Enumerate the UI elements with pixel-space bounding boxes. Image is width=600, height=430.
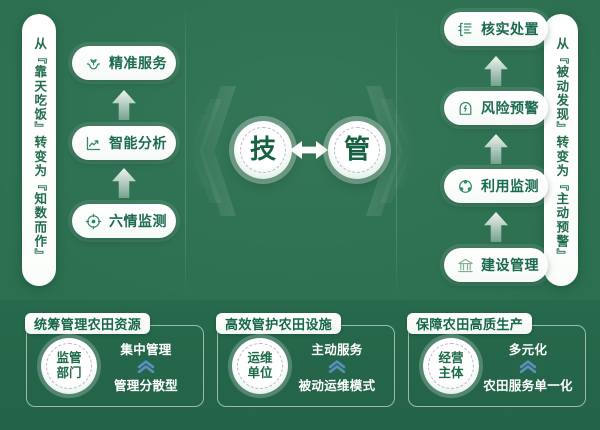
role-label-line2: 单位 xyxy=(247,366,272,381)
pill-precise-service[interactable]: 精准服务 xyxy=(72,46,176,80)
transform-target: 主动服务 xyxy=(311,339,362,358)
pill-label: 六情监测 xyxy=(109,211,167,231)
shield-bolt-icon xyxy=(457,100,474,117)
chevron-up-double-icon xyxy=(518,360,538,373)
pill-risk-warning[interactable]: 风险预警 xyxy=(444,91,548,125)
role-label-line2: 主体 xyxy=(438,366,463,381)
role-label-line1: 经营 xyxy=(438,351,463,366)
up-arrow-icon xyxy=(112,90,136,120)
role-circle: 运维 单位 xyxy=(232,338,288,394)
core-char: 技 xyxy=(250,137,276,163)
pill-utilization-monitoring[interactable]: 利用监测 xyxy=(444,169,548,203)
core-circle-management: 管 xyxy=(328,121,386,179)
recycle-nodes-icon xyxy=(457,178,474,195)
card-high-quality-production: 保障农田高质生产 经营 主体 多元化 xyxy=(408,325,586,407)
core-char: 管 xyxy=(344,137,370,163)
role-label-line1: 监管 xyxy=(56,351,81,366)
up-arrow-icon xyxy=(484,134,508,164)
pill-label: 利用监测 xyxy=(481,176,539,196)
chevron-up-double-icon xyxy=(136,360,156,373)
card-body: 运维 单位 主动服务 被动运维模式 xyxy=(218,326,394,406)
pill-six-condition-monitoring[interactable]: 六情监测 xyxy=(72,204,176,238)
role-label: 运维 单位 xyxy=(247,351,272,381)
banner-right-text: 从『被动发现』转变为『主动预警』 xyxy=(555,37,568,263)
target-crosshair-icon xyxy=(85,213,102,230)
line-chart-icon xyxy=(85,135,102,152)
up-arrow-icon xyxy=(484,56,508,86)
transform-source: 被动运维模式 xyxy=(299,375,376,394)
card-farmland-resources: 统筹管理农田资源 监管 部门 集中管理 xyxy=(26,325,204,407)
role-circle: 经营 主体 xyxy=(423,338,479,394)
decorative-chevron-burst-left xyxy=(182,86,236,216)
clipboard-check-icon xyxy=(457,21,474,38)
up-arrow-icon xyxy=(484,212,508,242)
banner-left-text: 从『靠天吃饭』转变为『知数而作』 xyxy=(33,37,46,263)
transform-block: 多元化 农田服务单一化 xyxy=(479,339,585,394)
chevron-up-double-icon xyxy=(327,360,347,373)
role-label-line1: 运维 xyxy=(247,351,272,366)
transform-target: 集中管理 xyxy=(120,339,171,358)
pill-construction-management[interactable]: 建设管理 xyxy=(444,248,548,282)
hands-sprout-icon xyxy=(85,55,102,72)
infographic-root: 从『靠天吃饭』转变为『知数而作』 从『被动发现』转变为『主动预警』 精准服务 xyxy=(0,0,600,430)
pill-verification-handling[interactable]: 核实处置 xyxy=(444,12,548,46)
card-body: 监管 部门 集中管理 管理分散型 xyxy=(27,326,203,406)
transform-block: 集中管理 管理分散型 xyxy=(97,339,203,394)
core-circle-technology: 技 xyxy=(234,121,292,179)
card-body: 经营 主体 多元化 农田服务单一化 xyxy=(409,326,585,406)
role-circle: 监管 部门 xyxy=(41,338,97,394)
double-arrow-icon xyxy=(290,141,328,159)
transform-block: 主动服务 被动运维模式 xyxy=(288,339,394,394)
decorative-hairline-left xyxy=(185,0,186,300)
pill-label: 精准服务 xyxy=(109,53,167,73)
pill-label: 建设管理 xyxy=(481,255,539,275)
banner-left: 从『靠天吃饭』转变为『知数而作』 xyxy=(22,14,56,286)
transform-source: 管理分散型 xyxy=(114,375,178,394)
bottom-cards-panel: 统筹管理农田资源 监管 部门 集中管理 xyxy=(0,300,600,430)
role-label: 经营 主体 xyxy=(438,351,463,381)
bank-building-icon xyxy=(457,257,474,274)
card-farmland-facilities: 高效管护农田设施 运维 单位 主动服务 xyxy=(217,325,395,407)
up-arrow-icon xyxy=(112,168,136,198)
decorative-hairline-right xyxy=(396,0,397,300)
top-diagram-panel: 从『靠天吃饭』转变为『知数而作』 从『被动发现』转变为『主动预警』 精准服务 xyxy=(0,0,600,300)
pill-label: 风险预警 xyxy=(481,98,539,118)
pill-label: 核实处置 xyxy=(481,19,539,39)
role-label-line2: 部门 xyxy=(56,366,81,381)
pill-label: 智能分析 xyxy=(109,133,167,153)
role-label: 监管 部门 xyxy=(56,351,81,381)
transform-source: 农田服务单一化 xyxy=(483,375,573,394)
banner-right: 从『被动发现』转变为『主动预警』 xyxy=(544,14,578,286)
transform-target: 多元化 xyxy=(509,339,547,358)
pill-intelligent-analysis[interactable]: 智能分析 xyxy=(72,126,176,160)
